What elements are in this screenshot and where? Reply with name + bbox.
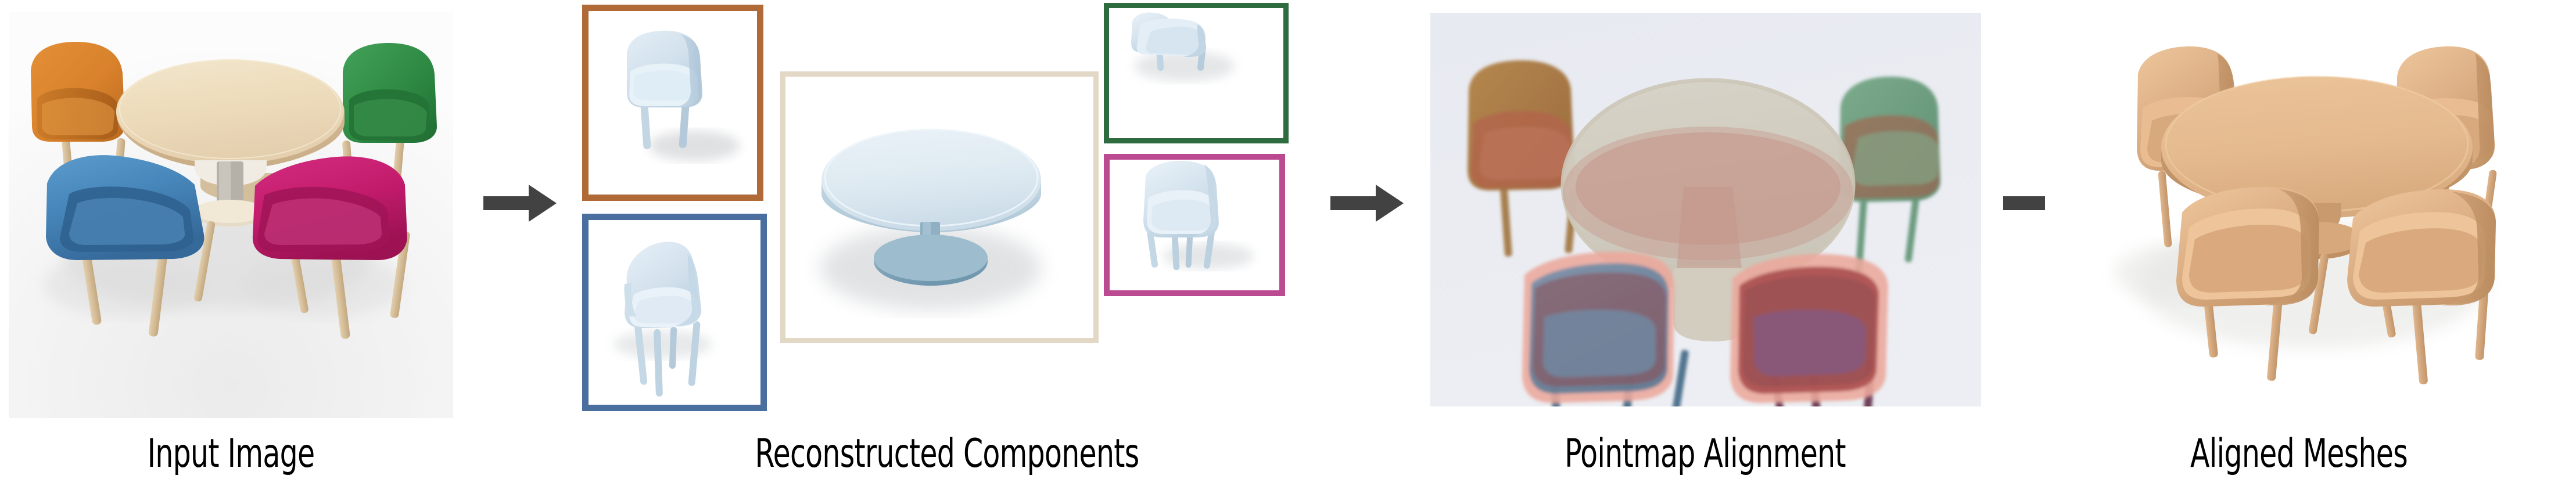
input-photo <box>9 12 453 418</box>
input-scene-render <box>9 12 453 418</box>
component-mesh-chair-orange <box>589 11 757 195</box>
component-card-chair-magenta[interactable] <box>1104 154 1285 296</box>
pointmap-scene <box>1430 13 1981 406</box>
component-mesh-table <box>785 77 1093 338</box>
pointmap-chair-front-left <box>1522 251 1689 406</box>
component-mesh-chair-green <box>1109 8 1283 138</box>
component-card-chair-green[interactable] <box>1104 3 1289 143</box>
right-arrow-icon <box>483 180 558 226</box>
component-card-chair-blue[interactable] <box>582 214 767 411</box>
component-mesh-chair-magenta <box>1110 160 1279 290</box>
component-card-table[interactable] <box>780 71 1099 343</box>
caption-input-image: Input Image <box>64 431 397 477</box>
aligned-mesh-render <box>2045 12 2568 418</box>
pointmap-chair-front-right <box>1730 254 1888 406</box>
pipeline-figure: Input Image <box>0 0 2576 486</box>
component-card-chair-orange[interactable] <box>582 5 763 201</box>
arrow-components-to-pointmap <box>1330 180 1405 229</box>
caption-pointmap-alignment: Pointmap Alignment <box>1498 431 1913 477</box>
caption-aligned-meshes: Aligned Meshes <box>2100 431 2499 477</box>
arrow-input-to-components <box>483 180 558 229</box>
right-arrow-icon <box>1330 180 1405 226</box>
caption-reconstructed-components: Reconstructed Components <box>620 431 1273 477</box>
component-mesh-chair-blue <box>589 220 760 405</box>
pointmap-render <box>1430 13 1981 406</box>
aligned-mesh-scene <box>2045 12 2568 418</box>
